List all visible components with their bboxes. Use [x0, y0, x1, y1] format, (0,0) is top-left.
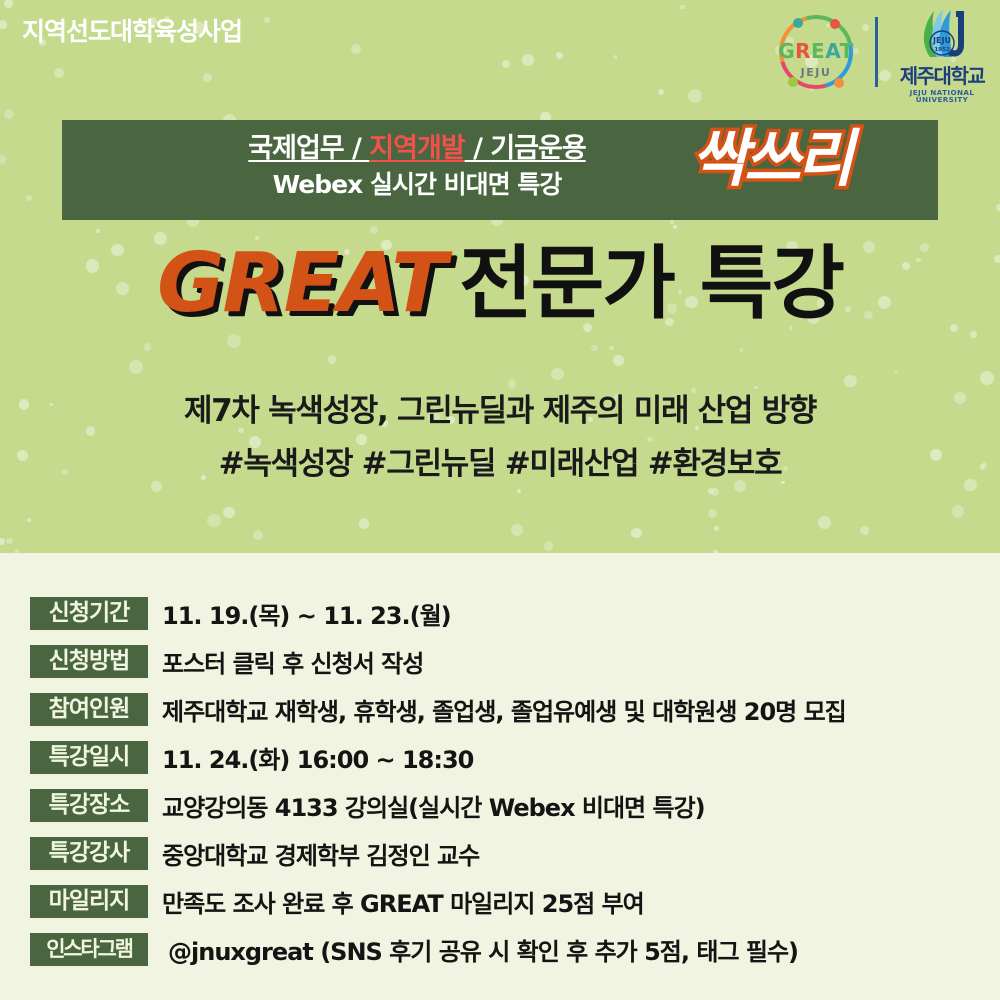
info-value: 11. 19.(목) ~ 11. 23.(월) — [162, 596, 451, 631]
main-title: GREAT전문가 특강 — [0, 243, 1000, 325]
banner-topic-sep2: / — [465, 133, 491, 164]
info-label: 참여인원 — [30, 693, 148, 726]
jnu-flame-icon: JEJU 1952 — [890, 5, 994, 61]
great-letter-g: G — [778, 39, 795, 63]
banner-topic-international: 국제업무 — [248, 133, 352, 164]
great-letter-t: T — [840, 39, 854, 63]
decorative-dot — [129, 360, 143, 374]
decorative-dot — [894, 370, 897, 373]
banner-topic-regional-highlight: 지역개발 — [369, 133, 464, 164]
decorative-dot — [511, 524, 523, 536]
decorative-dot — [980, 371, 994, 385]
decorative-dot — [27, 518, 31, 522]
subtitle-hashtags: #녹색성장 #그린뉴딜 #미래산업 #환경보호 — [0, 441, 1000, 488]
decorative-dot — [54, 68, 64, 78]
decorative-dot — [223, 507, 235, 519]
jeju-national-university-logo: JEJU 1952 제주대학교 JEJU NATIONAL UNIVERSITY — [890, 5, 994, 99]
main-title-korean: 전문가 특강 — [459, 237, 843, 330]
decorative-dot — [26, 195, 32, 201]
info-label: 신청방법 — [30, 645, 148, 678]
decorative-dot — [670, 220, 674, 224]
info-value: 제주대학교 재학생, 휴학생, 졸업생, 졸업유예생 및 대학원생 20명 모집 — [162, 692, 846, 727]
info-label: 마일리지 — [30, 885, 148, 918]
decorative-dot — [522, 54, 534, 66]
decorative-dot — [6, 538, 13, 545]
decorative-dot — [502, 60, 510, 68]
page-title: 지역선도대학육성사업 — [22, 12, 242, 48]
info-label: 신청기간 — [30, 597, 148, 630]
decorative-dot — [144, 343, 152, 351]
banner-brand-wordmark: 싹쓰리 — [691, 128, 850, 190]
info-row: 특강장소교양강의동 4133 강의실(실시간 Webex 비대면 특강) — [0, 781, 1000, 829]
info-label: 특강강사 — [30, 837, 148, 870]
decorative-dot — [551, 368, 564, 381]
decorative-dot — [714, 526, 719, 531]
info-row: 신청방법포스터 클릭 후 신청서 작성 — [0, 637, 1000, 685]
decorative-dot — [328, 355, 336, 363]
banner-topics-line: 국제업무 / 지역개발 / 기금운용 — [192, 132, 642, 166]
info-row: 마일리지만족도 조사 완료 후 GREAT 마일리지 25점 부여 — [0, 877, 1000, 925]
decorative-dot — [708, 509, 717, 518]
decorative-dot — [952, 505, 964, 517]
decorative-dot — [613, 355, 624, 366]
info-value: 11. 24.(화) 16:00 ~ 18:30 — [162, 740, 473, 775]
decorative-dot — [203, 73, 212, 82]
subtitle-topic: 제7차 녹색성장, 그린뉴딜과 제주의 미래 산업 방향 — [0, 388, 1000, 435]
info-row: 특강일시11. 24.(화) 16:00 ~ 18:30 — [0, 733, 1000, 781]
info-value: @jnuxgreat (SNS 후기 공유 시 확인 후 추가 5점, 태그 필… — [168, 932, 798, 967]
decorative-dot — [253, 530, 263, 540]
decorative-dot — [359, 518, 370, 529]
info-label: 특강장소 — [30, 789, 148, 822]
banner-webex-line: Webex 실시간 비대면 특강 — [192, 169, 642, 202]
great-wordmark: GREAT — [769, 39, 863, 63]
info-value: 교양강의동 4133 강의실(실시간 Webex 비대면 특강) — [162, 788, 705, 823]
decorative-dot — [609, 346, 614, 351]
info-value: 포스터 클릭 후 신청서 작성 — [162, 644, 423, 679]
great-letter-e: E — [811, 39, 825, 63]
decorative-dot — [860, 526, 869, 535]
info-row: 참여인원제주대학교 재학생, 휴학생, 졸업생, 졸업유예생 및 대학원생 20… — [0, 685, 1000, 733]
decorative-dot — [96, 229, 100, 233]
decorative-dot — [680, 5, 685, 10]
decorative-dot — [591, 345, 598, 352]
decorative-dot — [508, 380, 516, 388]
decorative-dot — [544, 541, 554, 551]
info-table: 신청기간11. 19.(목) ~ 11. 23.(월)신청방법포스터 클릭 후 … — [0, 553, 1000, 1000]
decorative-dot — [844, 375, 856, 387]
banner-topic-fund: 기금운용 — [490, 133, 585, 164]
great-jeju-logo: GREAT JEJU — [769, 6, 863, 98]
decorative-dot — [556, 52, 563, 59]
info-label: 인스타그램 — [30, 933, 148, 966]
decorative-dot — [614, 55, 618, 59]
university-name-korean: 제주대학교 — [890, 66, 994, 86]
info-row: 신청기간11. 19.(목) ~ 11. 23.(월) — [0, 589, 1000, 637]
svg-text:JEJU: JEJU — [932, 36, 951, 45]
subtitle-block: 제7차 녹색성장, 그린뉴딜과 제주의 미래 산업 방향 #녹색성장 #그린뉴딜… — [0, 388, 1000, 487]
decorative-dot — [818, 516, 831, 529]
decorative-dot — [227, 334, 241, 348]
decorative-dot — [0, 538, 5, 545]
great-jeju-sublabel: JEJU — [769, 66, 863, 79]
info-label: 특강일시 — [30, 741, 148, 774]
decorative-dot — [688, 89, 702, 103]
decorative-dot — [4, 109, 14, 119]
decorative-dot — [708, 488, 714, 494]
decorative-dot — [207, 514, 221, 528]
info-value: 중앙대학교 경제학부 김정인 교수 — [162, 836, 479, 871]
info-value: 만족도 조사 완료 후 GREAT 마일리지 25점 부여 — [162, 884, 644, 919]
decorative-dot — [0, 20, 7, 29]
university-name-english: JEJU NATIONAL UNIVERSITY — [890, 89, 994, 103]
decorative-dot — [4, 0, 13, 8]
decorative-dot — [631, 528, 642, 539]
great-letter-r: R — [795, 39, 811, 63]
topic-banner: 국제업무 / 지역개발 / 기금운용 Webex 실시간 비대면 특강 싹쓰리 — [62, 120, 938, 220]
logo-group: GREAT JEJU JEJU 1952 제주대학교 JEJU NATIONAL… — [769, 4, 994, 100]
decorative-dot — [351, 44, 362, 55]
decorative-dot — [996, 204, 1000, 211]
decorative-dot — [970, 331, 977, 338]
decorative-dot — [950, 324, 958, 332]
decorative-dot — [517, 489, 521, 493]
main-title-english: GREAT — [157, 236, 445, 331]
info-row: 인스타그램@jnuxgreat (SNS 후기 공유 시 확인 후 추가 5점,… — [0, 925, 1000, 973]
info-row: 특강강사중앙대학교 경제학부 김정인 교수 — [0, 829, 1000, 877]
decorative-dot — [370, 226, 378, 234]
poster-canvas: 지역선도대학육성사업 GREAT JEJU — [0, 0, 1000, 1000]
banner-text-block: 국제업무 / 지역개발 / 기금운용 Webex 실시간 비대면 특강 — [192, 132, 642, 201]
decorative-dot — [264, 17, 270, 23]
decorative-dot — [740, 348, 744, 352]
logo-divider — [875, 17, 878, 87]
decorative-dot — [658, 89, 664, 95]
great-letter-a: A — [825, 39, 839, 63]
banner-topic-sep1: / — [352, 133, 369, 164]
svg-text:1952: 1952 — [934, 47, 949, 53]
decorative-dot — [673, 225, 677, 229]
decorative-dot — [0, 155, 6, 164]
